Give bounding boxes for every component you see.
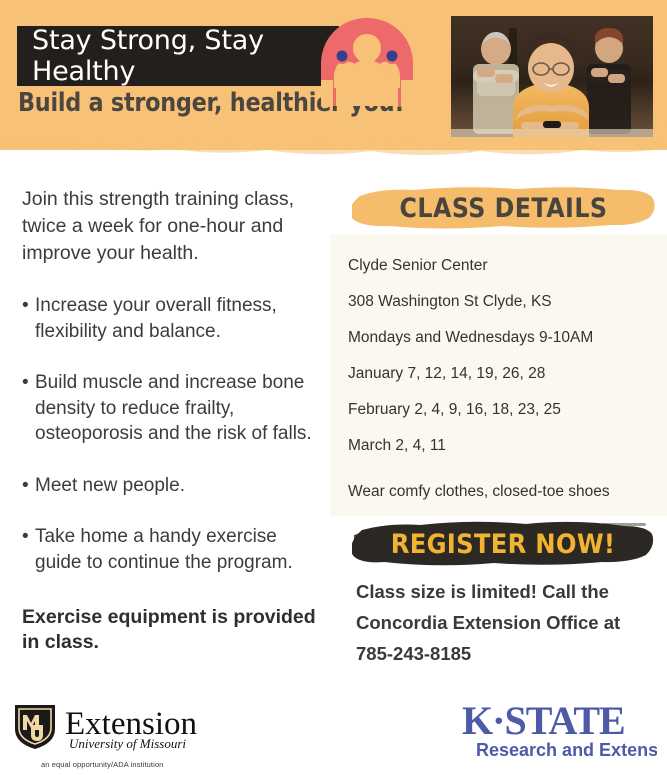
register-call-to-action: Class size is limited! Call the Concordi… <box>356 576 656 669</box>
bullet-marker-icon: • <box>22 293 35 344</box>
register-now-label: REGISTER NOW! <box>367 521 639 567</box>
kstate-subline: Research and Extension <box>476 740 657 760</box>
kstate-wordmark: K·STATE <box>462 700 625 743</box>
detail-venue: Clyde Senior Center <box>348 256 653 275</box>
kstate-logo: K·STATE Research and Extension <box>462 700 657 762</box>
flyer-page: Stay Strong, Stay Healthy Build a strong… <box>0 0 667 775</box>
list-item: • Build muscle and increase bone density… <box>22 370 322 447</box>
bullet-marker-icon: • <box>22 473 35 499</box>
bullet-marker-icon: • <box>22 524 35 575</box>
list-item-label: Build muscle and increase bone density t… <box>35 370 322 447</box>
list-item-label: Take home a handy exercise guide to cont… <box>35 524 322 575</box>
register-now-banner[interactable]: REGISTER NOW! <box>352 521 654 567</box>
list-item: • Increase your overall fitness, flexibi… <box>22 293 322 344</box>
detail-schedule: Mondays and Wednesdays 9-10AM <box>348 328 653 347</box>
attire-note: Wear comfy clothes, closed-toe shoes <box>348 483 610 501</box>
class-details-heading: CLASS DETAILS <box>352 186 655 230</box>
mu-fineprint: an equal opportunity/ADA institution <box>41 760 163 769</box>
class-details-list: Clyde Senior Center 308 Washington St Cl… <box>348 256 653 472</box>
list-item-label: Increase your overall fitness, flexibili… <box>35 293 322 344</box>
equipment-note: Exercise equipment is provided in class. <box>22 605 322 655</box>
list-item-label: Meet new people. <box>35 473 322 499</box>
bullet-marker-icon: • <box>22 370 35 447</box>
intro-paragraph: Join this strength training class, twice… <box>22 186 322 267</box>
mu-shield-icon <box>15 705 55 749</box>
detail-dates-february: February 2, 4, 9, 16, 18, 23, 25 <box>348 400 653 419</box>
seniors-exercising-photo <box>451 16 653 137</box>
flyer-title-bar: Stay Strong, Stay Healthy <box>17 26 339 86</box>
flexing-figure-dumbbell-icon <box>315 16 420 108</box>
detail-dates-march: March 2, 4, 11 <box>348 436 653 455</box>
header-banner: Stay Strong, Stay Healthy Build a strong… <box>0 0 667 150</box>
detail-address: 308 Washington St Clyde, KS <box>348 292 653 311</box>
benefits-column: Join this strength training class, twice… <box>22 186 322 655</box>
mu-subline: University of Missouri <box>69 736 186 751</box>
mu-extension-logo: Extension University of Missouri <box>12 703 227 751</box>
list-item: • Meet new people. <box>22 473 322 499</box>
class-details-label: CLASS DETAILS <box>370 186 637 230</box>
detail-dates-january: January 7, 12, 14, 19, 26, 28 <box>348 364 653 383</box>
page-title: Stay Strong, Stay Healthy <box>17 25 339 87</box>
list-item: • Take home a handy exercise guide to co… <box>22 524 322 575</box>
